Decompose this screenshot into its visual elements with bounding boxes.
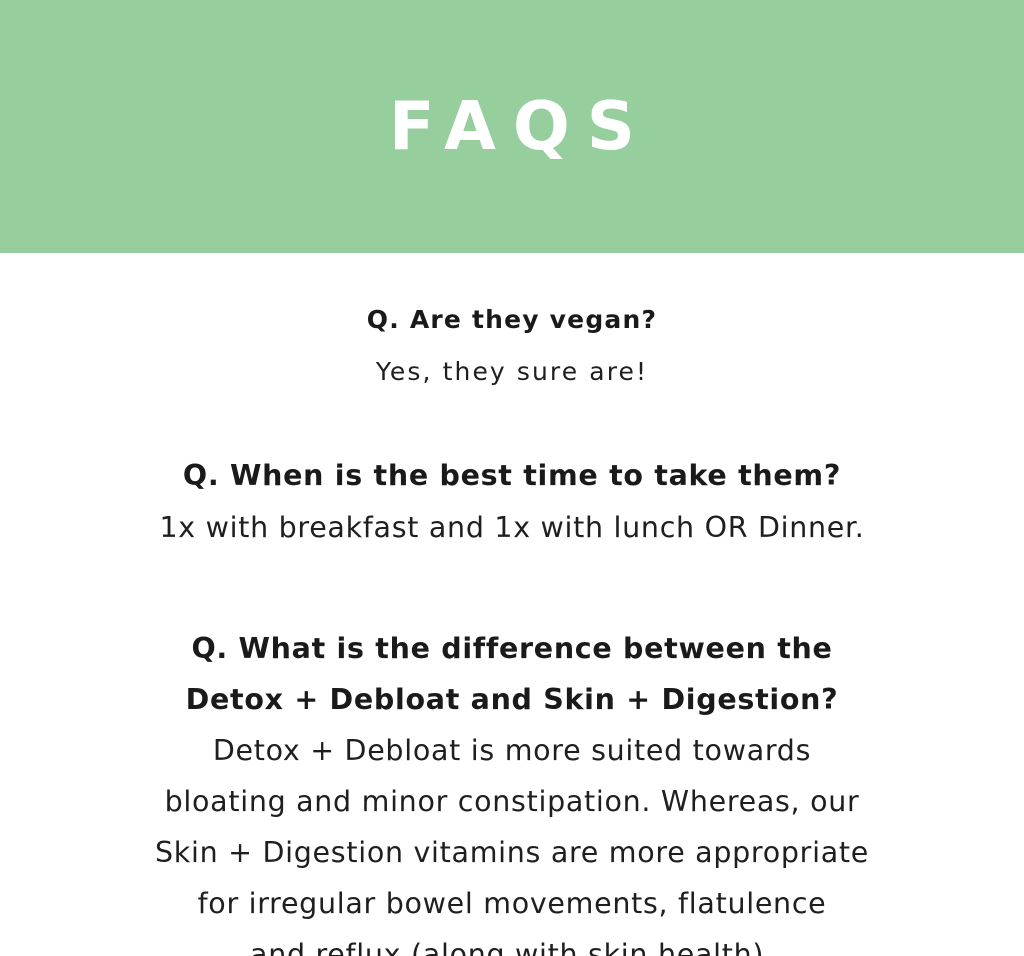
faq-answer-line: Yes, they sure are! — [0, 357, 1024, 387]
faq-answer-line: bloating and minor constipation. Whereas… — [0, 776, 1024, 827]
page-title: FAQS — [372, 93, 652, 160]
faq-question-2: Q. When is the best time to take them? — [0, 459, 1024, 493]
faq-answer-line: Detox + Debloat is more suited towards — [0, 725, 1024, 776]
faq-answer-2: 1x with breakfast and 1x with lunch OR D… — [0, 511, 1024, 545]
faq-answer-3: Detox + Debloat is more suited towards b… — [0, 725, 1024, 956]
faq-answer-line: Skin + Digestion vitamins are more appro… — [0, 827, 1024, 878]
faq-answer-line: 1x with breakfast and 1x with lunch OR D… — [0, 511, 1024, 545]
faq-question-line: Detox + Debloat and Skin + Digestion? — [0, 674, 1024, 725]
faq-item-3: Q. What is the difference between the De… — [0, 623, 1024, 956]
faq-item-1: Q. Are they vegan? Yes, they sure are! — [0, 305, 1024, 387]
faq-list: Q. Are they vegan? Yes, they sure are! Q… — [0, 253, 1024, 956]
faq-question-line: Q. What is the difference between the — [0, 623, 1024, 674]
faq-answer-line: and reflux (along with skin health). — [0, 929, 1024, 956]
faq-answer-line: for irregular bowel movements, flatulenc… — [0, 878, 1024, 929]
header-band: FAQS — [0, 0, 1024, 253]
faq-answer-1: Yes, they sure are! — [0, 357, 1024, 387]
faq-question-1: Q. Are they vegan? — [0, 305, 1024, 335]
faq-question-3: Q. What is the difference between the De… — [0, 623, 1024, 725]
faq-page: FAQS Q. Are they vegan? Yes, they sure a… — [0, 0, 1024, 956]
faq-item-2: Q. When is the best time to take them? 1… — [0, 459, 1024, 545]
